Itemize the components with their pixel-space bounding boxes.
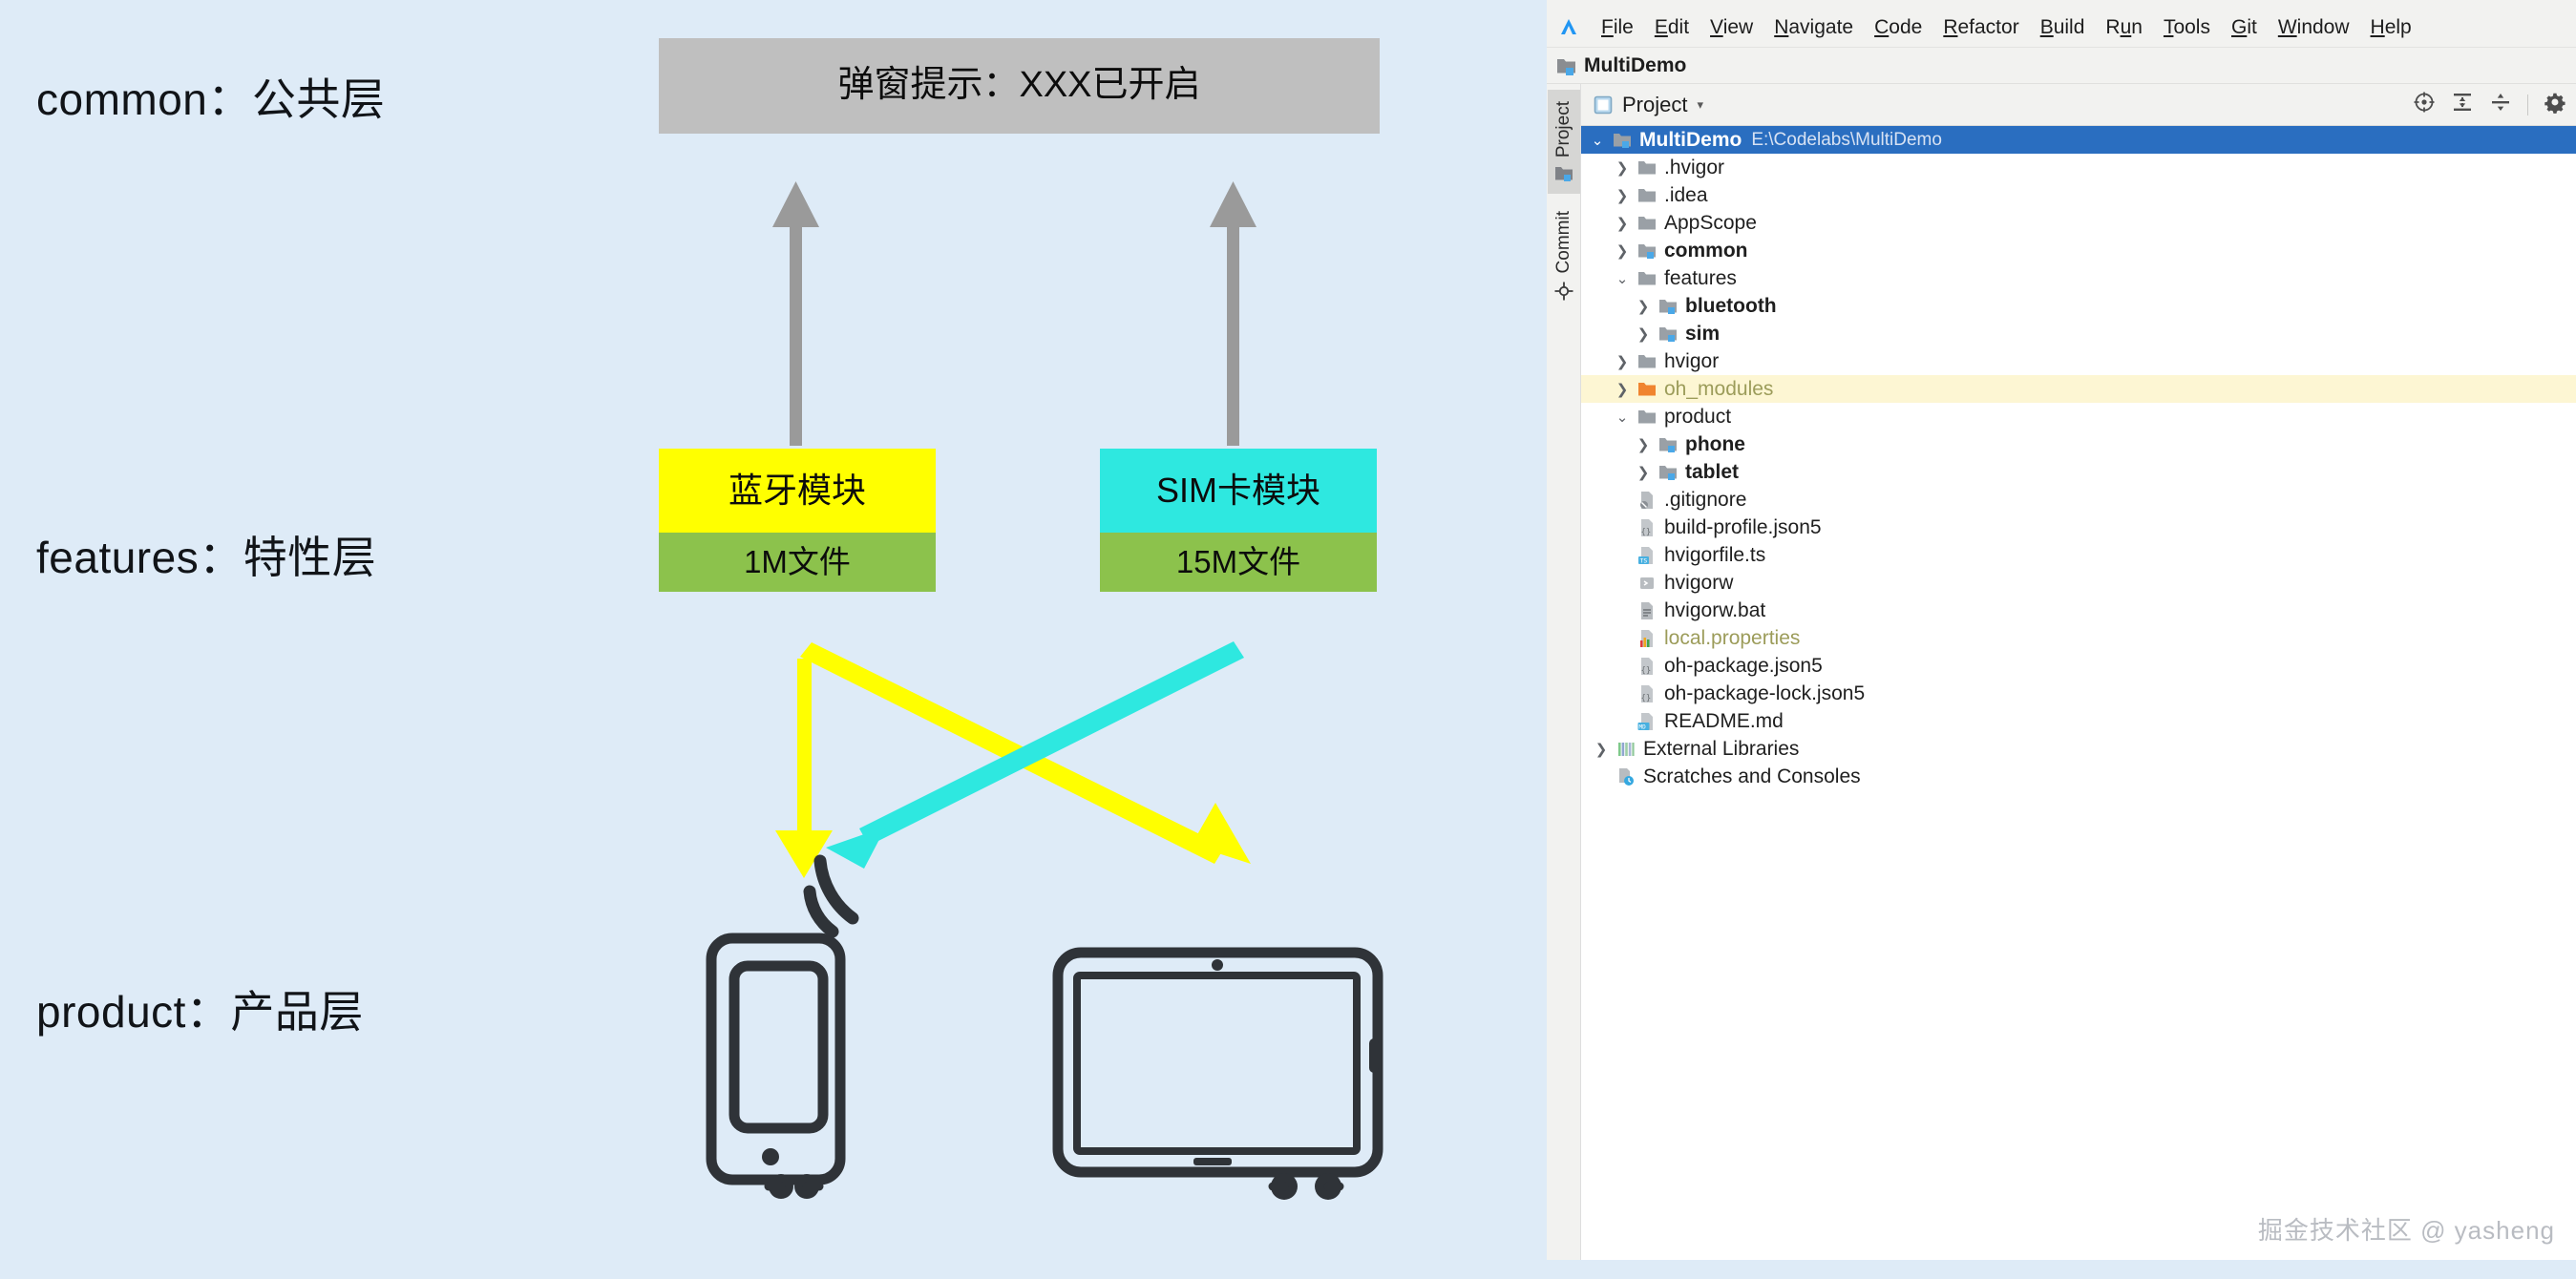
screenshot-root: common：公共层 features：特性层 product：产品层 弹窗提示…	[0, 0, 2576, 1279]
libraries-icon	[1614, 740, 1638, 758]
module-folder-icon	[1610, 132, 1635, 149]
folder-icon	[1554, 165, 1573, 182]
chevron-down-icon[interactable]: ⌄	[1585, 132, 1610, 149]
module-folder-icon	[1656, 464, 1680, 481]
project-panel-title: Project	[1622, 93, 1687, 117]
tree-label: oh_modules	[1664, 378, 1773, 401]
chevron-right-icon[interactable]: ❯	[1610, 215, 1635, 232]
tree-label: hvigorfile.ts	[1664, 544, 1765, 567]
menu-git[interactable]: Git	[2221, 13, 2268, 42]
rail-label-commit: Commit	[1553, 211, 1574, 273]
chevron-right-icon[interactable]: ❯	[1610, 381, 1635, 398]
select-opened-file-icon[interactable]	[2413, 91, 2436, 119]
tree-row-hvigorw-bat[interactable]: hvigorw.bat	[1581, 597, 2576, 624]
tree-label: build-profile.json5	[1664, 516, 1822, 539]
menu-code[interactable]: Code	[1864, 13, 1932, 42]
chevron-down-icon[interactable]: ▾	[1697, 97, 1703, 113]
settings-gear-icon[interactable]	[2544, 91, 2566, 119]
app-logo-icon	[1554, 13, 1583, 42]
svg-text:{}: {}	[1641, 666, 1652, 676]
tree-label: phone	[1685, 433, 1745, 456]
tree-label: hvigorw	[1664, 572, 1733, 595]
tree-label: hvigorw.bat	[1664, 599, 1765, 622]
tree-label: .hvigor	[1664, 157, 1724, 179]
svg-text:MD: MD	[1639, 723, 1647, 730]
chevron-right-icon[interactable]: ❯	[1631, 298, 1656, 315]
tree-label: common	[1664, 240, 1748, 262]
ide-title-strip	[1547, 0, 2576, 8]
tree-label: features	[1664, 267, 1737, 290]
file-properties-icon	[1635, 629, 1659, 648]
commit-icon	[1554, 282, 1573, 301]
file-md-icon: MD	[1635, 712, 1659, 731]
tree-row-external-libraries[interactable]: ❯ External Libraries	[1581, 735, 2576, 763]
tree-row-bluetooth[interactable]: ❯ bluetooth	[1581, 292, 2576, 320]
file-json5-icon: {}	[1635, 684, 1659, 703]
architecture-diagram: common：公共层 features：特性层 product：产品层 弹窗提示…	[0, 0, 1547, 1279]
tree-row-local-properties[interactable]: local.properties	[1581, 624, 2576, 652]
tree-label: local.properties	[1664, 627, 1800, 650]
tree-row-sim[interactable]: ❯ sim	[1581, 320, 2576, 347]
menu-bar: File Edit View Navigate Code Refactor Bu…	[1547, 8, 2576, 48]
project-panel-icon	[1593, 94, 1614, 115]
file-ts-icon: TS	[1635, 546, 1659, 565]
tree-label: External Libraries	[1643, 738, 1799, 761]
menu-run[interactable]: Run	[2095, 13, 2153, 42]
tree-row-gitignore[interactable]: .gitignore	[1581, 486, 2576, 514]
ide-bottom-strip	[1547, 1260, 2576, 1279]
project-panel: Project ▾	[1581, 84, 2576, 1260]
tree-row-phone[interactable]: ❯ phone	[1581, 430, 2576, 458]
project-panel-header: Project ▾	[1581, 84, 2576, 126]
tree-label: oh-package.json5	[1664, 655, 1823, 678]
tree-row-oh-package-lock[interactable]: {} oh-package-lock.json5	[1581, 680, 2576, 707]
tree-row-path: E:\Codelabs\MultiDemo	[1751, 130, 1942, 151]
module-folder-icon	[1656, 298, 1680, 315]
tree-row-hvigor[interactable]: ❯ hvigor	[1581, 347, 2576, 375]
collapse-all-icon[interactable]	[2489, 91, 2512, 119]
phone-device-illustration	[711, 861, 853, 1199]
file-script-icon	[1635, 574, 1659, 593]
rail-label-project: Project	[1553, 101, 1574, 157]
chevron-right-icon[interactable]: ❯	[1610, 187, 1635, 204]
tree-label: tablet	[1685, 461, 1739, 484]
project-title-bar: MultiDemo	[1547, 48, 2576, 84]
menu-edit[interactable]: Edit	[1644, 13, 1700, 42]
ide-body: Project Commit Project	[1547, 84, 2576, 1260]
chevron-down-icon[interactable]: ⌄	[1610, 409, 1635, 426]
module-folder-icon	[1556, 56, 1577, 75]
folder-icon	[1635, 409, 1659, 426]
tree-row-oh-modules[interactable]: ❯ oh_modules	[1581, 375, 2576, 403]
chevron-right-icon[interactable]: ❯	[1610, 242, 1635, 260]
tree-row-scratches[interactable]: Scratches and Consoles	[1581, 763, 2576, 790]
expand-all-icon[interactable]	[2451, 91, 2474, 119]
module-folder-icon	[1656, 325, 1680, 343]
file-bat-icon	[1635, 601, 1659, 620]
tree-row-multidemo[interactable]: ⌄ MultiDemo E:\Codelabs\MultiDemo	[1581, 126, 2576, 154]
rail-button-commit[interactable]: Commit	[1548, 199, 1580, 311]
menu-window[interactable]: Window	[2268, 13, 2360, 42]
file-json5-icon: {}	[1635, 657, 1659, 676]
tree-label: Scratches and Consoles	[1643, 765, 1861, 788]
project-name-label: MultiDemo	[1584, 54, 1686, 77]
project-file-tree[interactable]: ⌄ MultiDemo E:\Codelabs\MultiDemo ❯	[1581, 126, 2576, 1260]
tree-row-product[interactable]: ⌄ product	[1581, 403, 2576, 430]
svg-text:TS: TS	[1640, 556, 1648, 564]
scratches-icon	[1614, 767, 1638, 786]
tree-row-hvigorw[interactable]: hvigorw	[1581, 569, 2576, 597]
module-folder-icon	[1656, 436, 1680, 453]
module-folder-icon	[1635, 242, 1659, 260]
tree-row-common[interactable]: ❯ common	[1581, 237, 2576, 264]
tree-row-features[interactable]: ⌄ features	[1581, 264, 2576, 292]
chevron-right-icon[interactable]: ❯	[1610, 353, 1635, 370]
tree-label: sim	[1685, 323, 1720, 346]
tree-label: MultiDemo	[1639, 129, 1742, 152]
chevron-right-icon[interactable]: ❯	[1631, 325, 1656, 343]
tree-label: .gitignore	[1664, 489, 1746, 512]
folder-icon	[1635, 215, 1659, 232]
tree-label: AppScope	[1664, 212, 1757, 235]
chevron-right-icon[interactable]: ❯	[1610, 159, 1635, 177]
chevron-right-icon[interactable]: ❯	[1631, 464, 1656, 481]
tablet-device-illustration	[1058, 953, 1379, 1200]
rail-button-project[interactable]: Project	[1548, 90, 1580, 194]
menu-view[interactable]: View	[1700, 13, 1763, 42]
tree-row-oh-package[interactable]: {} oh-package.json5	[1581, 652, 2576, 680]
ide-window: File Edit View Navigate Code Refactor Bu…	[1547, 0, 2576, 1260]
menu-refactor[interactable]: Refactor	[1932, 13, 2029, 42]
svg-text:{}: {}	[1641, 528, 1652, 537]
tree-row-appscope[interactable]: ❯ AppScope	[1581, 209, 2576, 237]
chevron-right-icon[interactable]: ❯	[1631, 436, 1656, 453]
tree-row-build-profile[interactable]: {} build-profile.json5	[1581, 514, 2576, 541]
tree-row-idea[interactable]: ❯ .idea	[1581, 181, 2576, 209]
tree-label: .idea	[1664, 184, 1708, 207]
tree-label: oh-package-lock.json5	[1664, 682, 1865, 705]
toolbar-divider	[2527, 94, 2528, 115]
chevron-right-icon[interactable]: ❯	[1589, 741, 1614, 758]
folder-icon	[1635, 353, 1659, 370]
tree-label: README.md	[1664, 710, 1784, 733]
chevron-down-icon[interactable]: ⌄	[1610, 270, 1635, 287]
file-json5-icon: {}	[1635, 518, 1659, 537]
device-illustrations	[0, 0, 1547, 1279]
tree-row-hvigorfile-ts[interactable]: TS hvigorfile.ts	[1581, 541, 2576, 569]
menu-build[interactable]: Build	[2030, 13, 2096, 42]
file-gitignore-icon	[1635, 491, 1659, 510]
folder-icon	[1635, 270, 1659, 287]
project-panel-toolbar	[2413, 91, 2566, 119]
tree-row-readme[interactable]: MD README.md	[1581, 707, 2576, 735]
tree-row-tablet[interactable]: ❯ tablet	[1581, 458, 2576, 486]
tree-label: bluetooth	[1685, 295, 1777, 318]
tree-label: product	[1664, 406, 1731, 429]
folder-icon	[1635, 187, 1659, 204]
menu-file[interactable]: File	[1591, 13, 1644, 42]
menu-tools[interactable]: Tools	[2153, 13, 2221, 42]
folder-orange-icon	[1635, 381, 1659, 398]
tree-row-hvigor-dot[interactable]: ❯ .hvigor	[1581, 154, 2576, 181]
svg-text:{}: {}	[1641, 694, 1652, 703]
tool-window-rail: Project Commit	[1547, 84, 1581, 1260]
menu-help[interactable]: Help	[2360, 13, 2422, 42]
menu-navigate[interactable]: Navigate	[1763, 13, 1864, 42]
folder-icon	[1635, 159, 1659, 177]
watermark-label: 掘金技术社区 @ yasheng	[2258, 1211, 2555, 1247]
tree-label: hvigor	[1664, 350, 1719, 373]
